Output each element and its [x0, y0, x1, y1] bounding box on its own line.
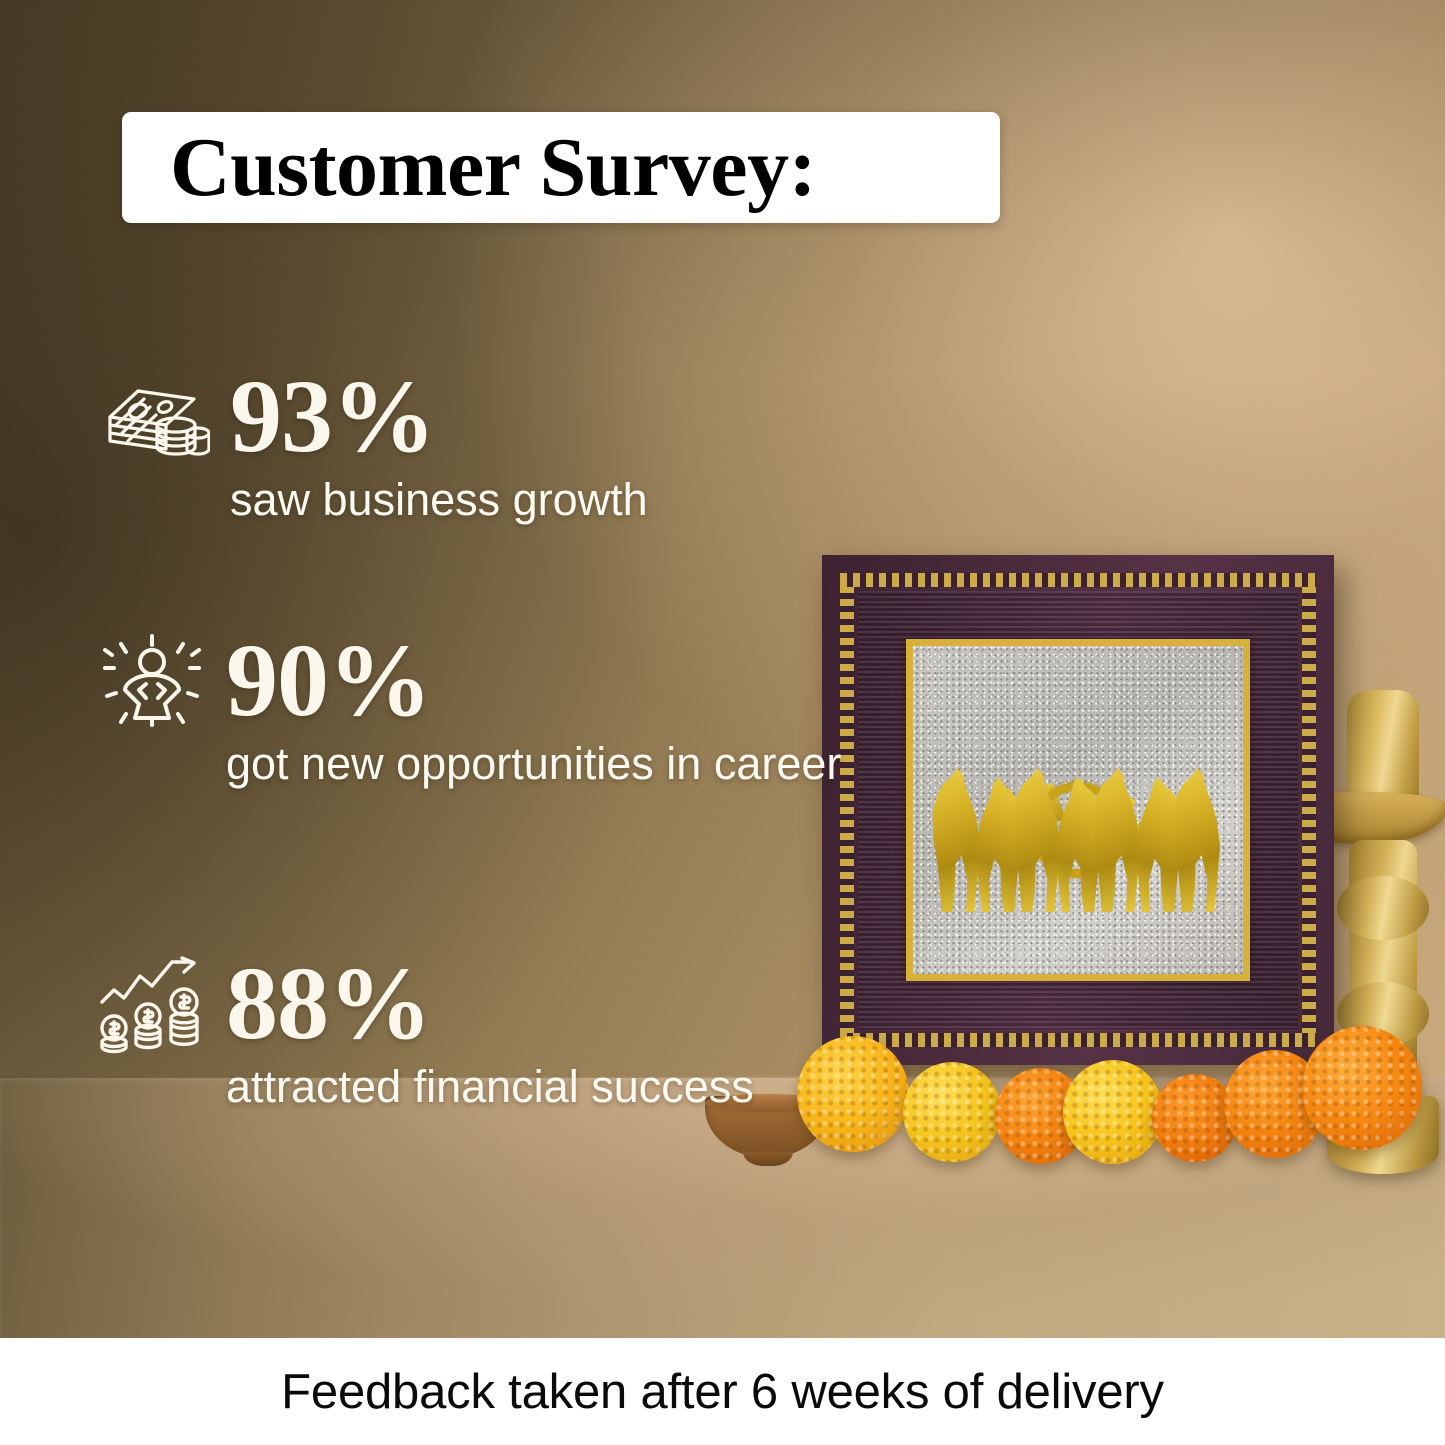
- lamp-neck: [1347, 690, 1419, 808]
- diya-foot: [743, 1152, 793, 1166]
- stat-label: saw business growth: [230, 473, 648, 528]
- footer-band: Feedback taken after 6 weeks of delivery: [0, 1338, 1445, 1445]
- stat-value: 93%: [230, 368, 435, 467]
- stat-head: 88%: [96, 955, 754, 1054]
- person-radiating-icon: [96, 633, 208, 729]
- growth-chart-coins-icon: [96, 956, 208, 1052]
- stat-item-financial-success: 88% attracted financial success: [96, 955, 754, 1115]
- stat-label: got new opportunities in career: [226, 737, 841, 792]
- framed-artwork: [822, 555, 1334, 1065]
- marigold-flower: [797, 1036, 909, 1152]
- stat-label: attracted financial success: [226, 1060, 754, 1115]
- title-plate: Customer Survey:: [122, 112, 1000, 223]
- footer-note: Feedback taken after 6 weeks of delivery: [281, 1364, 1164, 1420]
- money-stack-icon: [100, 369, 212, 465]
- promo-poster: Customer Survey:: [0, 0, 1445, 1445]
- marigold-flower: [1063, 1060, 1163, 1164]
- stat-value: 88%: [226, 955, 431, 1054]
- marigold-flower: [1302, 1026, 1422, 1150]
- page-title: Customer Survey:: [122, 126, 816, 210]
- stat-item-career-opportunities: 90% got new opportunities in career: [96, 632, 841, 792]
- lamp-bulge-upper: [1337, 876, 1429, 940]
- frame-gold-trim: [906, 639, 1250, 981]
- horse-figure: [1169, 762, 1227, 912]
- stat-head: 93%: [100, 368, 648, 467]
- seven-horses-motif: [931, 744, 1225, 912]
- marigold-flower: [903, 1062, 1001, 1162]
- stat-head: 90%: [96, 632, 841, 731]
- stat-value: 90%: [226, 632, 431, 731]
- stat-item-business-growth: 93% saw business growth: [100, 368, 648, 528]
